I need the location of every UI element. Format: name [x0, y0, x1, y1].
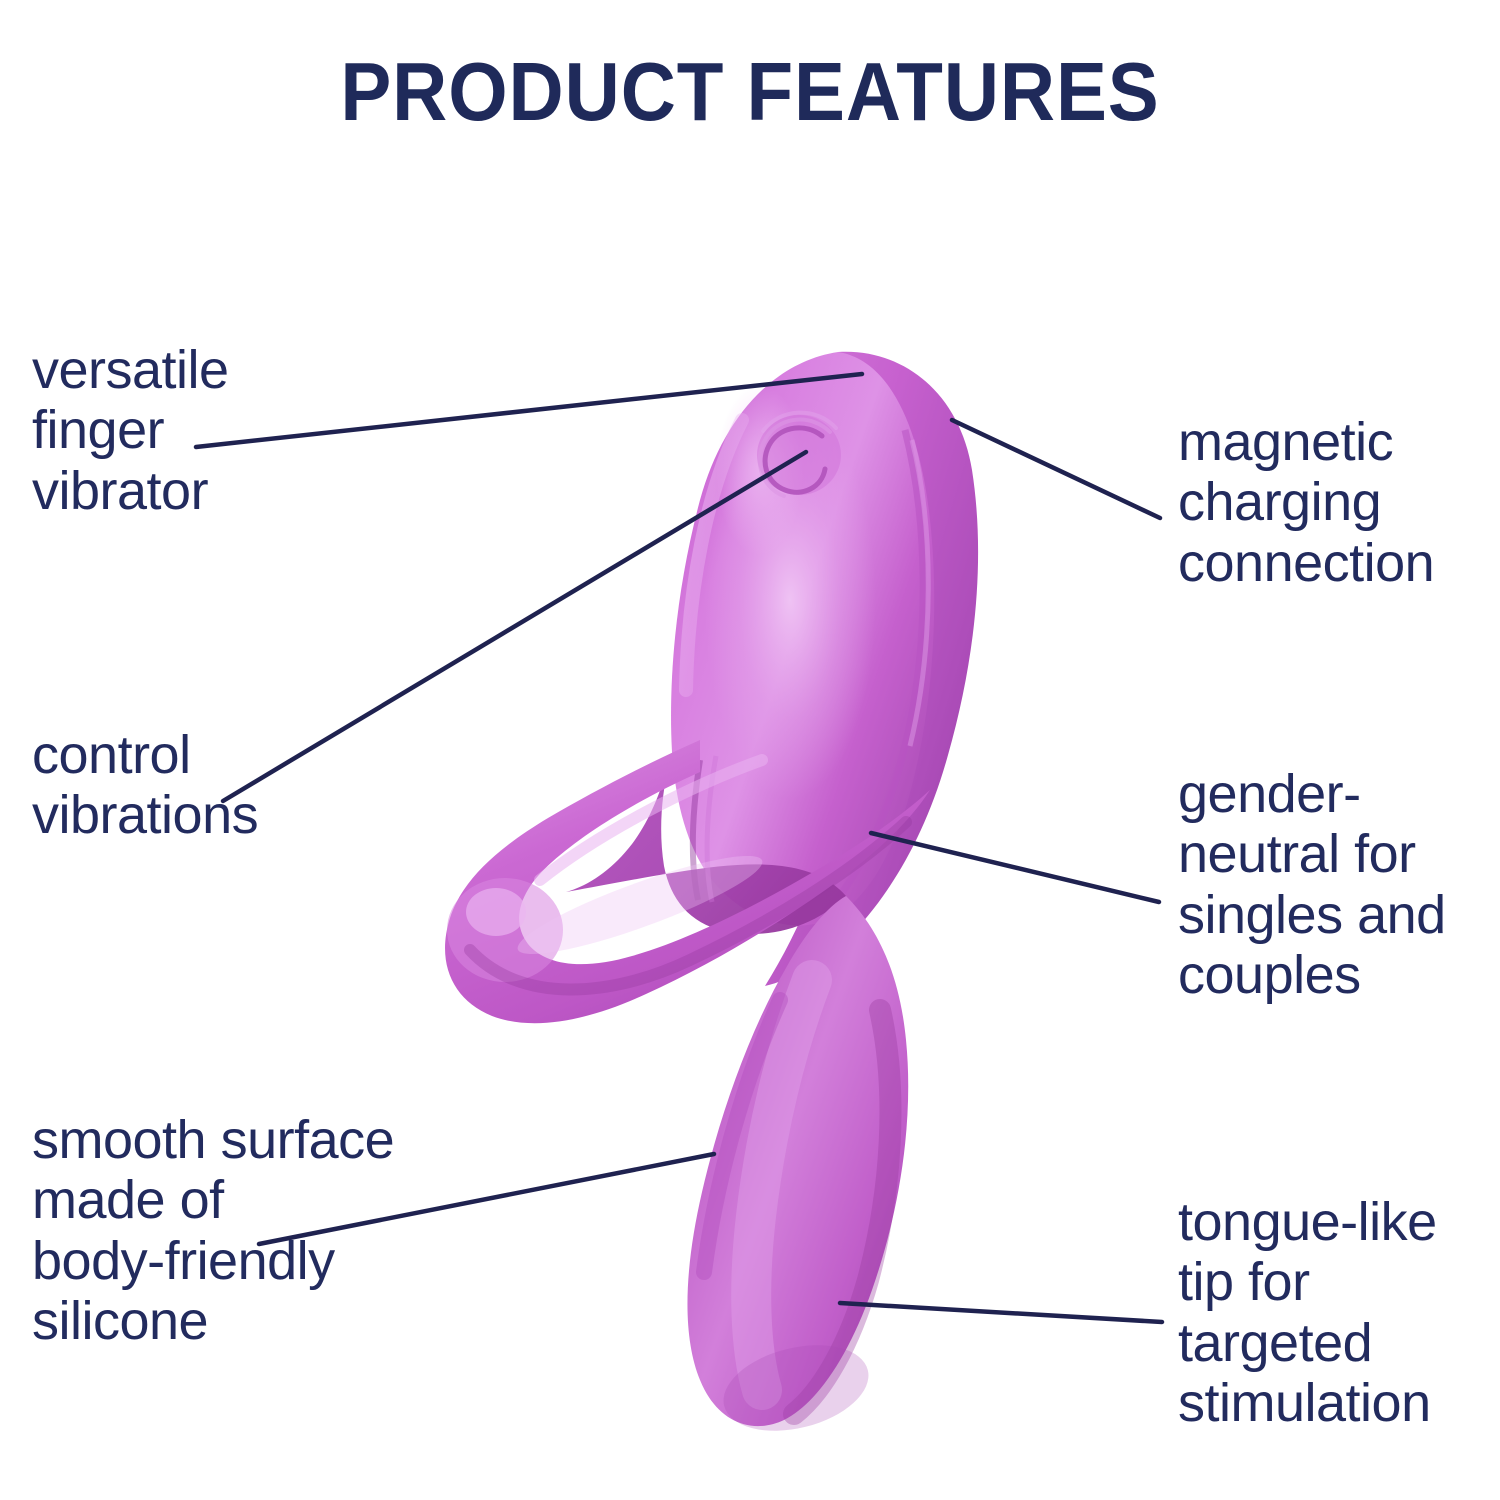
callout-line: gender-: [1178, 764, 1446, 824]
callout-smooth-surface-silicone: smooth surface made of body-friendly sil…: [32, 1110, 394, 1352]
callout-line: vibrator: [32, 461, 229, 521]
callout-line: couples: [1178, 945, 1446, 1005]
callout-line: versatile: [32, 340, 229, 400]
product-shaft-tip: [687, 896, 908, 1445]
callout-line: control: [32, 725, 258, 785]
callout-line: targeted: [1178, 1313, 1437, 1373]
product-features-infographic: PRODUCT FEATURES: [0, 0, 1500, 1500]
callout-line: neutral for: [1178, 824, 1446, 884]
callout-line: silicone: [32, 1291, 394, 1351]
callout-line: magnetic: [1178, 412, 1434, 472]
callout-magnetic-charging-connection: magnetic charging connection: [1178, 412, 1434, 593]
callout-line: smooth surface: [32, 1110, 394, 1170]
callout-versatile-finger-vibrator: versatile finger vibrator: [32, 340, 229, 521]
callout-line: connection: [1178, 533, 1434, 593]
callout-tongue-like-tip: tongue-like tip for targeted stimulation: [1178, 1192, 1437, 1434]
callout-line: vibrations: [32, 785, 258, 845]
callout-control-vibrations: control vibrations: [32, 725, 258, 846]
callout-line: tip for: [1178, 1252, 1437, 1312]
callout-line: tongue-like: [1178, 1192, 1437, 1252]
callout-line: finger: [32, 400, 229, 460]
callout-line: stimulation: [1178, 1373, 1437, 1433]
callout-line: singles and: [1178, 885, 1446, 945]
callout-gender-neutral: gender- neutral for singles and couples: [1178, 764, 1446, 1006]
callout-line: charging: [1178, 472, 1434, 532]
callout-line: made of: [32, 1170, 394, 1230]
callout-line: body-friendly: [32, 1231, 394, 1291]
